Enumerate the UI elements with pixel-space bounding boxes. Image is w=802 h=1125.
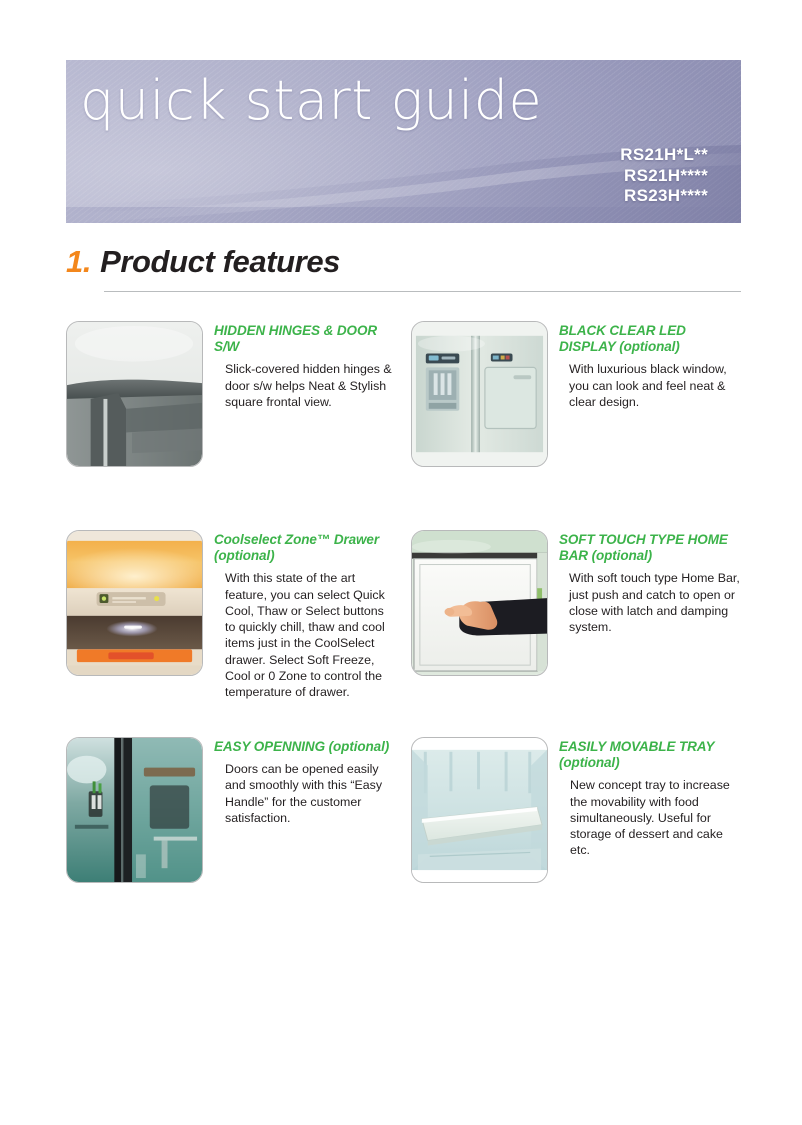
section-divider [104, 291, 741, 292]
feature-heading: HIDDEN HINGES & DOOR S/W [214, 323, 396, 355]
banner-title: quick start guide [80, 74, 542, 128]
black-clear-led-thumbnail [411, 321, 548, 467]
feature-heading: BLACK CLEAR LED DISPLAY (optional) [559, 323, 741, 355]
easy-openning-photo [67, 738, 202, 882]
feature-body: New concept tray to increase the movabil… [559, 777, 741, 858]
model-number-1: RS21H*L** [620, 145, 708, 166]
model-number-3: RS23H**** [620, 186, 708, 207]
feature-heading: Coolselect Zone™ Drawer (optional) [214, 532, 396, 564]
model-number-list: RS21H*L** RS21H**** RS23H**** [620, 145, 708, 207]
coolselect-zone-thumbnail [66, 530, 203, 676]
feature-heading: EASY OPENNING (optional) [214, 739, 396, 755]
easily-movable-tray-photo [412, 738, 547, 882]
feature-body: Slick-covered hidden hinges & door s/w h… [214, 361, 396, 410]
easily-movable-tray-thumbnail [411, 737, 548, 883]
section-number: 1. [66, 246, 91, 277]
easy-openning-thumbnail [66, 737, 203, 883]
hidden-hinges-photo [67, 322, 202, 466]
feature-item-coolselect-zone: Coolselect Zone™ Drawer (optional) With … [66, 530, 396, 700]
feature-item-movable-tray: EASILY MOVABLE TRAY (optional) New conce… [411, 737, 741, 883]
model-number-2: RS21H**** [620, 166, 708, 187]
feature-item-easy-openning: EASY OPENNING (optional) Doors can be op… [66, 737, 396, 883]
feature-body: With soft touch type Home Bar, just push… [559, 570, 741, 635]
section-title: Product features [100, 246, 340, 277]
hidden-hinges-thumbnail [66, 321, 203, 467]
document-page: quick start guide RS21H*L** RS21H**** RS… [0, 0, 802, 1125]
feature-body: With luxurious black window, you can loo… [559, 361, 741, 410]
coolselect-zone-drawer-photo [67, 531, 202, 675]
feature-body: With this state of the art feature, you … [214, 570, 396, 700]
feature-heading: EASILY MOVABLE TRAY (optional) [559, 739, 741, 771]
feature-body: Doors can be opened easily and smoothly … [214, 761, 396, 826]
header-banner: quick start guide RS21H*L** RS21H**** RS… [66, 60, 741, 223]
soft-touch-home-bar-thumbnail [411, 530, 548, 676]
feature-item-led-display: BLACK CLEAR LED DISPLAY (optional) With … [411, 321, 741, 467]
black-clear-led-display-photo [412, 322, 547, 466]
feature-heading: SOFT TOUCH TYPE HOME BAR (optional) [559, 532, 741, 564]
section-heading: 1. Product features [66, 246, 741, 277]
feature-item-home-bar: SOFT TOUCH TYPE HOME BAR (optional) With… [411, 530, 741, 676]
soft-touch-home-bar-photo [412, 531, 547, 675]
feature-item-hidden-hinges: HIDDEN HINGES & DOOR S/W Slick-covered h… [66, 321, 396, 467]
